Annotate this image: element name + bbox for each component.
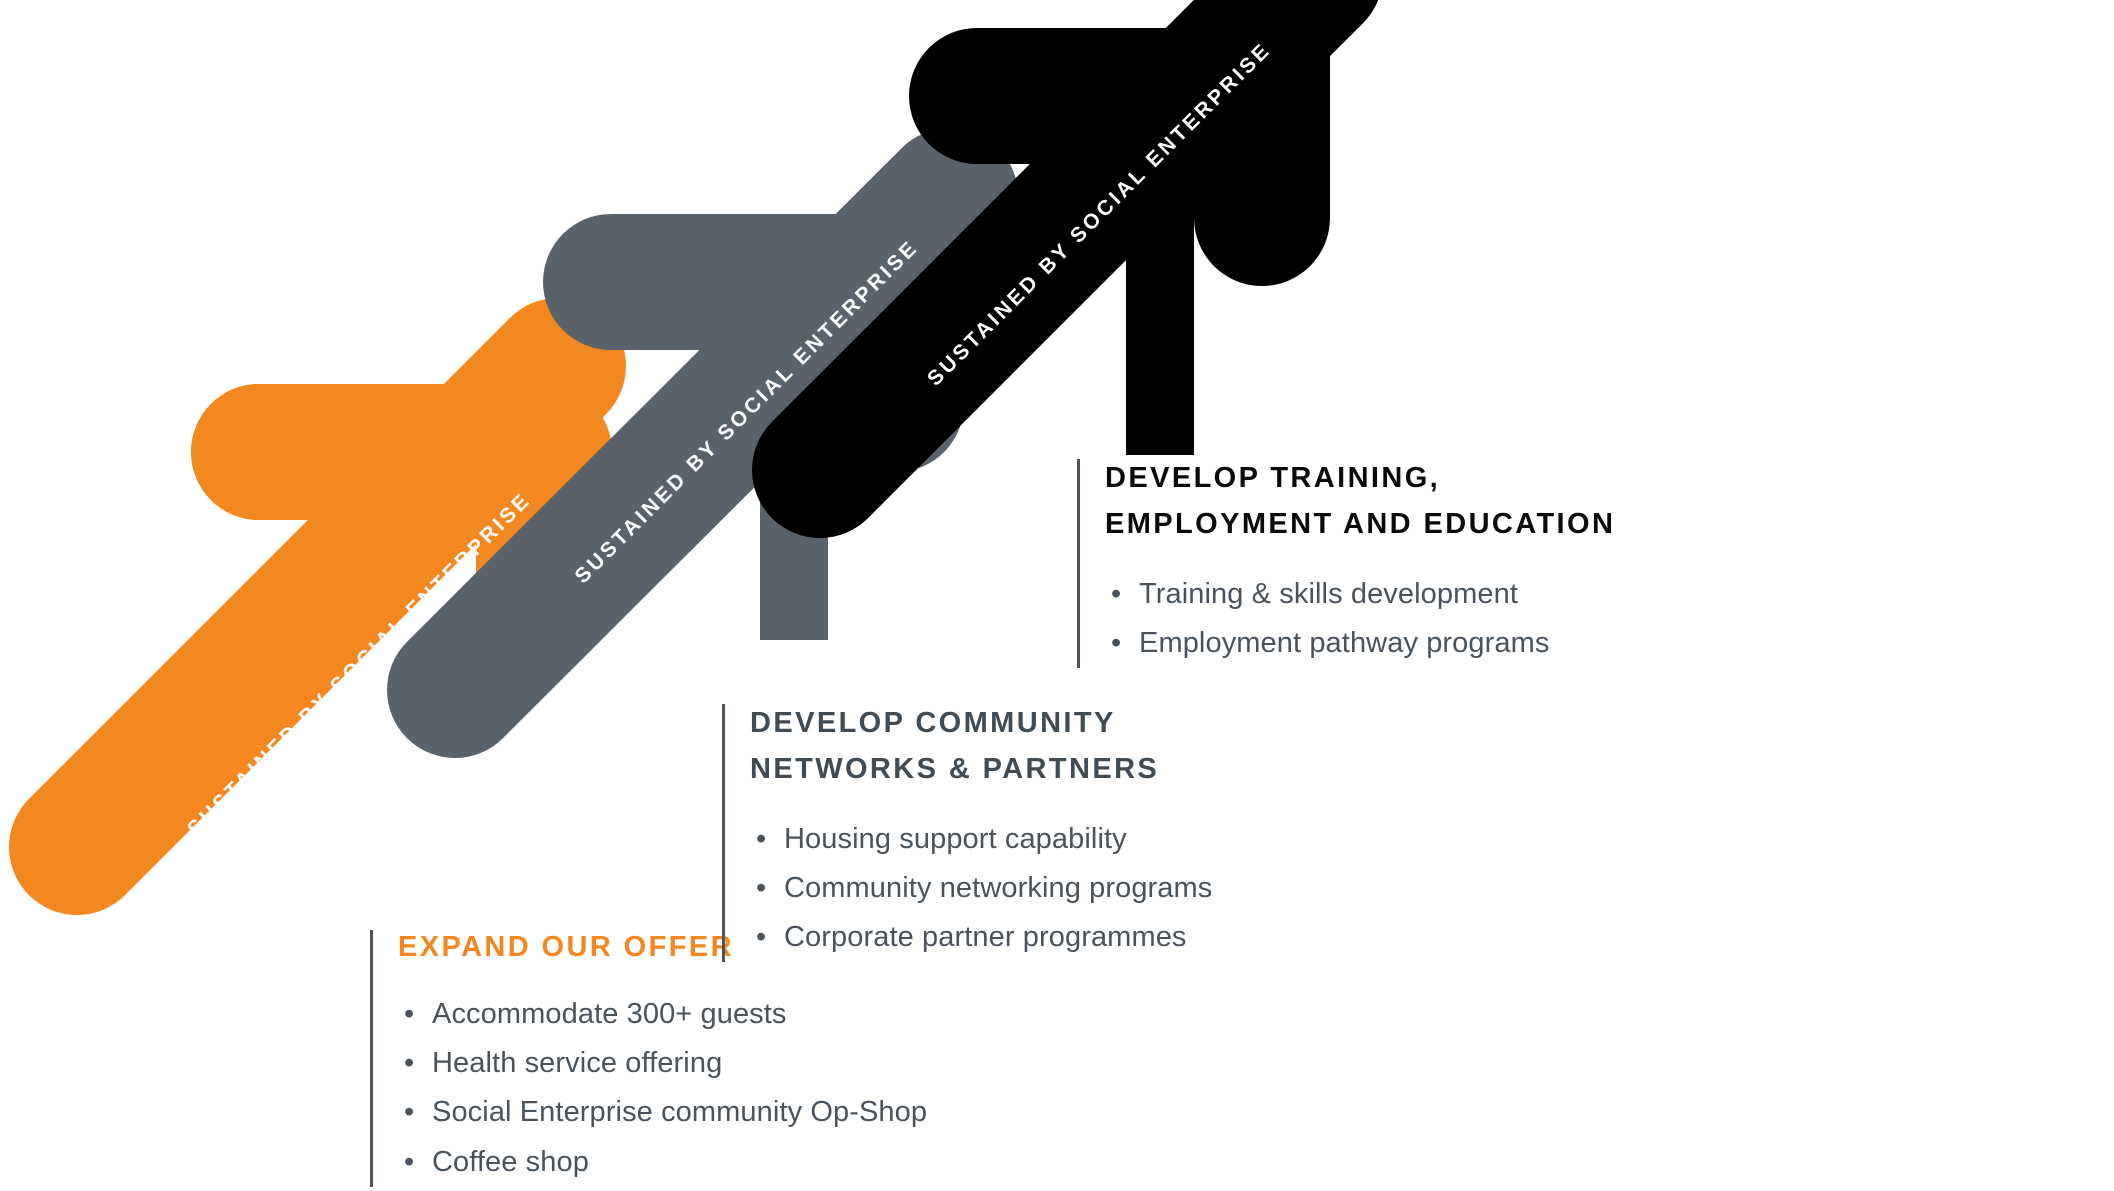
heading-training: DEVELOP TRAINING, EMPLOYMENT AND EDUCATI…	[1105, 455, 1805, 548]
bullet-icon: •	[756, 868, 766, 909]
list-item-label: Health service offering	[432, 1047, 722, 1079]
bullet-list-training: • Training & skills development • Employ…	[1105, 574, 1805, 664]
bullet-icon: •	[756, 819, 766, 860]
bullet-icon: •	[756, 917, 766, 958]
list-item-label: Housing support capability	[784, 823, 1127, 855]
bullet-icon: •	[404, 1043, 414, 1084]
step-block-community: DEVELOP COMMUNITY NETWORKS & PARTNERS • …	[722, 700, 1390, 966]
vertical-rule	[1077, 459, 1080, 668]
bullet-icon: •	[404, 994, 414, 1035]
list-item: • Training & skills development	[1105, 574, 1805, 615]
list-item: • Accommodate 300+ guests	[398, 994, 1038, 1035]
list-item: • Community networking programs	[750, 868, 1390, 909]
list-item: • Coffee shop	[398, 1142, 1038, 1183]
bullet-icon: •	[404, 1092, 414, 1133]
bullet-icon: •	[1111, 623, 1121, 664]
list-item-label: Social Enterprise community Op-Shop	[432, 1096, 927, 1128]
list-item-label: Community networking programs	[784, 872, 1212, 904]
list-item: • Social Enterprise community Op-Shop	[398, 1092, 1038, 1133]
diagram-canvas: SUSTAINED BY SOCIAL ENTERPRISE SUSTAINED…	[0, 0, 2114, 1165]
step-block-training: DEVELOP TRAINING, EMPLOYMENT AND EDUCATI…	[1077, 455, 1805, 672]
bullet-icon: •	[1111, 574, 1121, 615]
heading-community: DEVELOP COMMUNITY NETWORKS & PARTNERS	[750, 700, 1390, 793]
list-item: • Corporate partner programmes	[750, 917, 1390, 958]
list-item-label: Training & skills development	[1139, 578, 1518, 610]
list-item-label: Employment pathway programs	[1139, 627, 1549, 659]
list-item-label: Corporate partner programmes	[784, 921, 1187, 953]
vertical-rule	[722, 704, 725, 962]
list-item-label: Coffee shop	[432, 1146, 589, 1178]
bullet-list-community: • Housing support capability • Community…	[750, 819, 1390, 959]
list-item: • Employment pathway programs	[1105, 623, 1805, 664]
vertical-rule	[370, 930, 373, 1187]
list-item: • Health service offering	[398, 1043, 1038, 1084]
bullet-list-expand: • Accommodate 300+ guests • Health servi…	[398, 994, 1038, 1183]
bullet-icon: •	[404, 1142, 414, 1183]
list-item-label: Accommodate 300+ guests	[432, 998, 787, 1030]
list-item: • Housing support capability	[750, 819, 1390, 860]
